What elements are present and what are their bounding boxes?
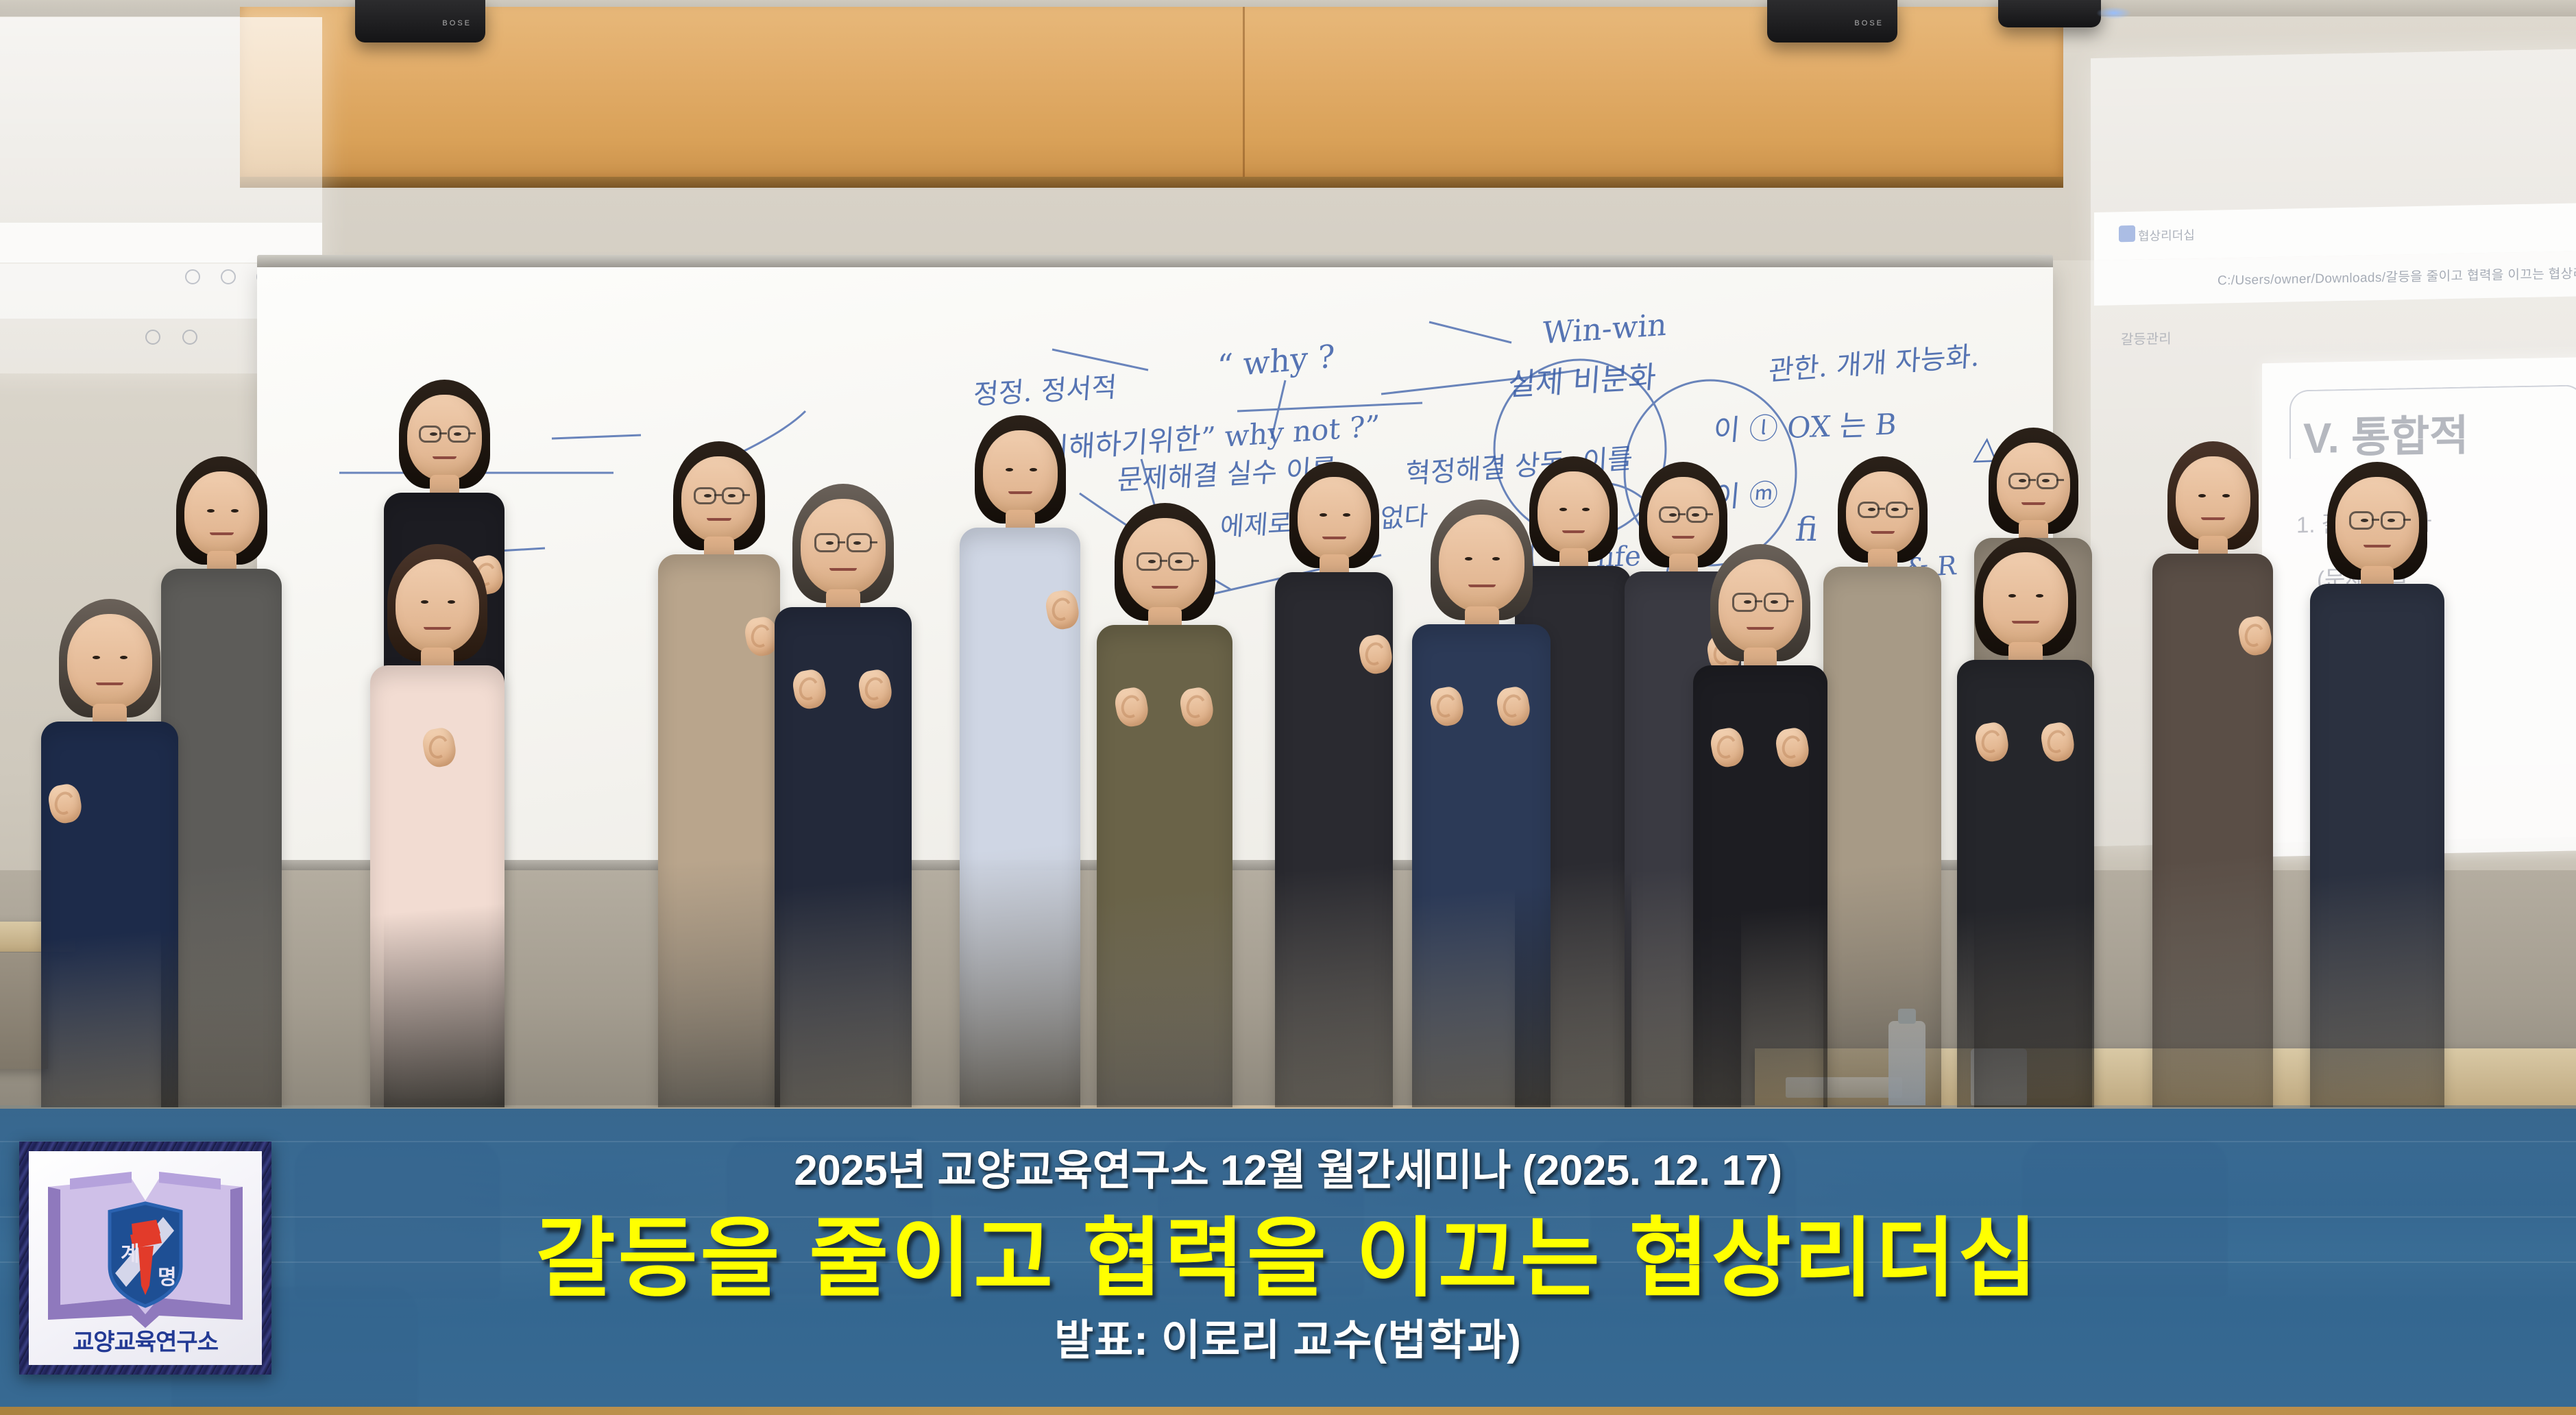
person-torso	[161, 569, 282, 1107]
person-mouth	[1008, 491, 1032, 494]
person-glasses	[1168, 552, 1193, 571]
person-face	[1439, 515, 1524, 612]
person-face	[1718, 559, 1802, 653]
person-mouth	[424, 627, 450, 630]
person-glasses	[2008, 473, 2030, 489]
person-mouth	[96, 682, 123, 685]
person-face	[1123, 518, 1207, 613]
person-face	[67, 614, 152, 709]
title-banner: 계 명 교양교육연구소 2025년 교양교육연구소 12월 월간세미나 (202…	[0, 1105, 2576, 1415]
person-face	[184, 471, 259, 556]
person-torso	[2310, 584, 2444, 1107]
person-glasses	[814, 533, 840, 552]
person-glasses	[2381, 511, 2406, 530]
person-torso	[41, 722, 178, 1107]
person-mouth	[2201, 517, 2225, 520]
screenshot-root: BOSE BOSE 협상리더십 C:/Users/owner/Downloads…	[0, 0, 2576, 1415]
person-mouth	[433, 456, 457, 459]
person-glasses	[1732, 593, 1758, 611]
person-glasses	[694, 487, 716, 504]
banner-subtitle: 2025년 교양교육연구소 12월 월간세미나 (2025. 12. 17)	[0, 1135, 2576, 1197]
person-glasses	[1686, 506, 1708, 523]
person-glasses	[722, 487, 744, 504]
person-face	[801, 499, 886, 595]
person-glasses	[1659, 506, 1681, 523]
person-face	[407, 395, 482, 480]
person-eye	[2198, 494, 2206, 497]
banner-bottom-edge	[0, 1407, 2576, 1415]
person-mouth	[1562, 530, 1585, 533]
person-eye	[1559, 508, 1567, 511]
person-glasses	[2349, 511, 2374, 530]
person-mouth	[2012, 621, 2039, 624]
person-face	[1647, 477, 1719, 559]
banner-presenter: 발표: 이로리 교수(법학과)	[0, 1305, 2576, 1367]
person-glasses	[847, 533, 872, 552]
banner-title: 갈등을 줄이고 협력을 이끄는 협상리더십	[0, 1189, 2576, 1314]
person-mouth	[1468, 585, 1496, 587]
person-mouth	[707, 518, 731, 521]
person-glasses	[1858, 502, 1880, 518]
person-glasses	[2037, 473, 2058, 489]
person-mouth	[829, 568, 857, 571]
person-face	[1983, 552, 2068, 648]
person-mouth	[1672, 536, 1695, 539]
person-face	[681, 456, 757, 542]
person-face	[1997, 443, 2070, 526]
person-mouth	[1747, 627, 1773, 630]
person-face	[2335, 477, 2419, 571]
person-face	[2176, 456, 2250, 541]
person-glasses	[1764, 593, 1789, 611]
person-mouth	[210, 532, 234, 535]
person-face	[1298, 477, 1371, 560]
person-mouth	[1871, 531, 1894, 534]
people-group	[0, 0, 2576, 1107]
person-glasses	[448, 426, 470, 443]
person-eye	[2222, 494, 2230, 497]
person-glasses	[419, 426, 441, 443]
person-mouth	[1322, 537, 1346, 539]
person-glasses	[1137, 552, 1162, 571]
person-glasses	[1886, 502, 1908, 518]
group-photo: BOSE BOSE 협상리더십 C:/Users/owner/Downloads…	[0, 0, 2576, 1107]
person-torso	[1693, 665, 1827, 1107]
person-eye	[231, 509, 239, 513]
person-face	[1538, 471, 1609, 554]
person-mouth	[1152, 586, 1178, 589]
person-face	[1846, 471, 1919, 554]
person-face	[983, 430, 1058, 515]
person-eye	[1030, 468, 1037, 471]
person-eye	[1006, 468, 1013, 471]
person-eye	[1582, 508, 1590, 511]
person-mouth	[2021, 502, 2045, 505]
person-face	[396, 559, 479, 653]
person-mouth	[2364, 545, 2390, 547]
person-torso	[1957, 660, 2094, 1107]
person-eye	[207, 509, 215, 513]
person-torso	[1823, 567, 1941, 1107]
